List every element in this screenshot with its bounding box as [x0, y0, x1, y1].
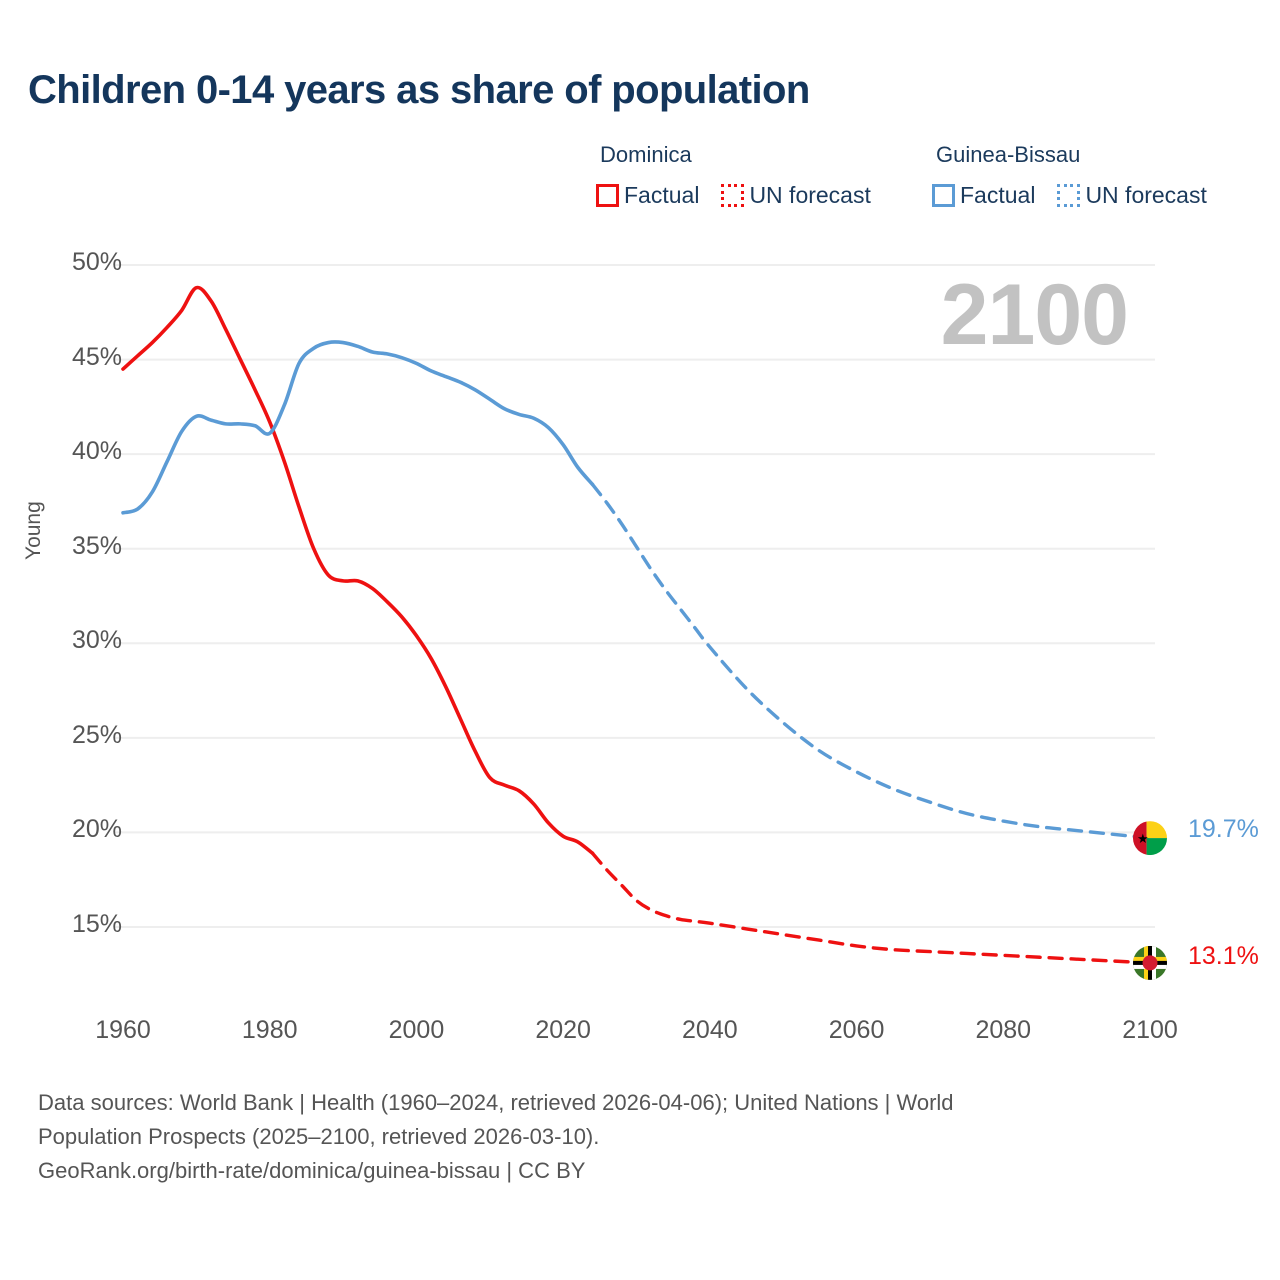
y-axis-tick-label: 25% [72, 721, 122, 750]
series-line-dominica-forecast [592, 853, 1150, 963]
y-axis-tick-label: 35% [72, 532, 122, 561]
flag-marker-dominica [1133, 946, 1167, 980]
country-flag-markers: ★ [1133, 821, 1181, 980]
x-axis-tick-label: 2020 [535, 1016, 591, 1045]
endpoint-label-dominica: 13.1% [1188, 942, 1259, 971]
svg-text:★: ★ [1137, 831, 1149, 846]
chart-root: Children 0-14 years as share of populati… [0, 0, 1280, 1280]
flag-marker-guinea-bissau: ★ [1133, 821, 1181, 855]
series-line-guinea-bissau-forecast [592, 484, 1150, 838]
y-axis-tick-label: 40% [72, 437, 122, 466]
y-axis-tick-label: 30% [72, 626, 122, 655]
x-axis-tick-label: 1960 [95, 1016, 151, 1045]
footer-line-3[interactable]: GeoRank.org/birth-rate/dominica/guinea-b… [38, 1154, 1218, 1188]
gridlines [115, 265, 1155, 927]
x-axis-tick-label: 2100 [1122, 1016, 1178, 1045]
x-axis-tick-label: 1980 [242, 1016, 298, 1045]
x-axis-tick-label: 2060 [829, 1016, 885, 1045]
y-axis-tick-label: 15% [72, 910, 122, 939]
footer-sources: Data sources: World Bank | Health (1960–… [38, 1086, 1218, 1188]
endpoint-label-guinea-bissau: 19.7% [1188, 815, 1259, 844]
footer-line-2: Population Prospects (2025–2100, retriev… [38, 1120, 1218, 1154]
x-axis-tick-label: 2040 [682, 1016, 738, 1045]
footer-line-1: Data sources: World Bank | Health (1960–… [38, 1086, 1218, 1120]
x-axis-tick-label: 2000 [389, 1016, 445, 1045]
series-line-dominica-factual [123, 287, 592, 853]
series-layer [123, 287, 1150, 962]
x-axis-tick-label: 2080 [975, 1016, 1031, 1045]
series-line-guinea-bissau-factual [123, 342, 592, 513]
y-axis-tick-label: 45% [72, 343, 122, 372]
y-axis-tick-label: 20% [72, 815, 122, 844]
y-axis-tick-label: 50% [72, 248, 122, 277]
